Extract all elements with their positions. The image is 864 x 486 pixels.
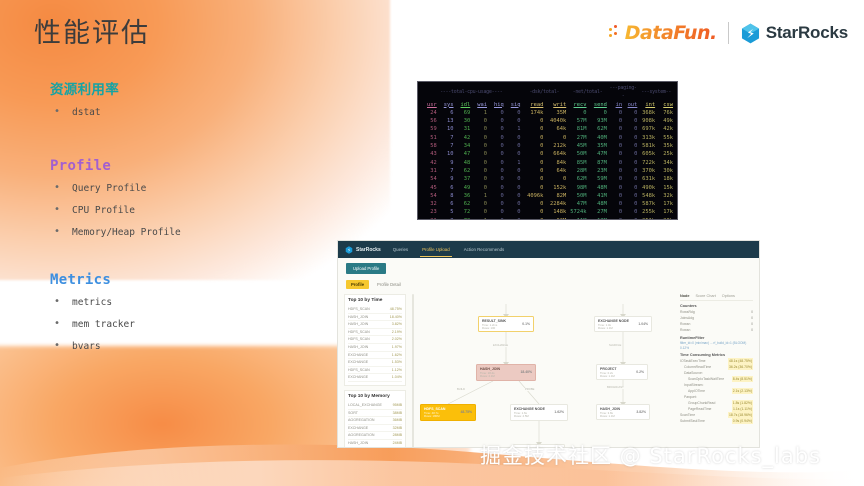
counter-row: Rowsn0 <box>680 327 753 333</box>
dstat-cell-int: 587k <box>638 200 656 208</box>
dstat-cell-sys: 6 <box>438 184 455 192</box>
dstat-cell-siq: 0 <box>505 175 522 183</box>
list-item: metrics <box>50 296 350 309</box>
dstat-cell-idl: 72 <box>455 208 472 216</box>
bullet-list-profile: Query Profile CPU Profile Memory/Heap Pr… <box>50 182 350 239</box>
list-item: bvars <box>50 340 350 353</box>
dstat-col-send: send <box>588 101 608 109</box>
dstat-cell-read: 0 <box>522 134 545 142</box>
metric-value: 0.9s (0.94%) <box>732 418 753 424</box>
dstat-cell-recv: 50M <box>567 192 587 200</box>
table-row: 235720000148k5724k27M00255k17k <box>421 208 674 216</box>
dstat-cell-out: 0 <box>623 208 638 216</box>
dstat-cell-writ: 62M <box>544 217 567 220</box>
dstat-cell-sys: 7 <box>438 167 455 175</box>
list-item[interactable]: EXCHANGE16MB <box>348 448 402 449</box>
dstat-cell-siq: 0 <box>505 217 522 220</box>
dstat-cell-read: 0 <box>522 142 545 150</box>
dstat-cell-recv: 62M <box>567 175 587 183</box>
dstat-cell-send: 87M <box>588 159 608 167</box>
dstat-cell-sys: 9 <box>438 159 455 167</box>
datafun-dots-icon <box>609 25 623 41</box>
edge-label: SHUFFLE <box>608 344 622 347</box>
webui-nav-profile-upload[interactable]: Profile Upload <box>420 243 452 257</box>
webui-toolbar: Upload Profile <box>338 258 759 278</box>
section-heading-profile: Profile <box>50 158 350 174</box>
dstat-cell-read: 0 <box>522 159 545 167</box>
dstat-cell-out: 0 <box>623 117 638 125</box>
dstat-cell-in: 0 <box>608 142 623 150</box>
dstat-cell-out: 0 <box>623 217 638 220</box>
list-item-value: 48.75% <box>390 306 402 313</box>
dstat-cell-siq: 1 <box>505 159 522 167</box>
dstat-cell-sys: 7 <box>438 142 455 150</box>
dstat-cell-writ: 148k <box>544 208 567 216</box>
section-heading-resource: 资源利用率 <box>50 78 350 98</box>
dstat-table: ----total-cpu-usage---- -dsk/total- -net… <box>421 84 674 220</box>
dstat-cell-read: 0 <box>522 117 545 125</box>
dstat-cell-wai: 0 <box>471 200 488 208</box>
dstat-cell-recv: 81M <box>567 125 587 133</box>
dstat-cell-int: 908k <box>638 117 656 125</box>
dstat-cell-send: 27M <box>588 208 608 216</box>
dstat-cell-csw: 42k <box>656 125 674 133</box>
list-item[interactable]: HDFS_SCAN2.02% <box>348 336 402 344</box>
dstat-cell-usr: 54 <box>421 192 438 200</box>
dstat-cell-recv: 85M <box>567 159 587 167</box>
dstat-cell-read: 4096k <box>522 192 545 200</box>
plan-node[interactable]: HDFS_SCANTime: 48.7sRows: 180M48.75% <box>420 404 476 421</box>
list-item-label: HDFS_SCAN <box>348 329 370 336</box>
runtime-filter-note: filter_id=0 (min/max) ... rf_build_id=1 … <box>680 341 753 350</box>
dstat-cell-int: 255k <box>638 208 656 216</box>
right-tab-node[interactable]: Node <box>680 294 690 298</box>
dstat-cell-wai: 0 <box>471 150 488 158</box>
list-item: CPU Profile <box>50 204 350 217</box>
section-heading-metrics: Metrics <box>50 272 350 288</box>
list-item-value: 18.40% <box>390 314 402 321</box>
top-memory-title: Top 10 by Memory <box>348 394 402 399</box>
plan-node-percent: 48.75% <box>461 410 473 414</box>
dstat-group-disk: -dsk/total- <box>522 84 568 101</box>
list-item-label: HDFS_SCAN <box>348 306 370 313</box>
list-item-label: EXCHANGE <box>348 359 368 366</box>
dstat-cell-csw: 34k <box>656 159 674 167</box>
dstat-cell-send: 93M <box>588 117 608 125</box>
dstat-cell-hiq: 0 <box>488 184 505 192</box>
dstat-cell-writ: 2284k <box>544 200 567 208</box>
webui-brand: StarRocks <box>345 246 381 254</box>
table-row: 587340000212k45M35M00581k35k <box>421 142 674 150</box>
dstat-cell-writ: 35M <box>544 109 567 117</box>
starrocks-hexagon-icon <box>345 246 353 254</box>
plan-node-sub: Rows: 4.5M <box>514 415 564 419</box>
list-item-label: HDFS_SCAN <box>348 367 370 374</box>
dstat-cell-send: 40M <box>588 134 608 142</box>
dstat-col-idl: idl <box>455 101 472 109</box>
dstat-col-out: out <box>623 101 638 109</box>
dstat-cell-wai: 0 <box>471 134 488 142</box>
dstat-cell-send: 62M <box>588 125 608 133</box>
edge-label: EXCHANGE <box>492 344 509 347</box>
edge-label: PROBE <box>524 388 535 391</box>
list-item[interactable]: EXCHANGE1.04% <box>348 374 402 382</box>
dstat-cell-out: 0 <box>623 167 638 175</box>
starrocks-hexagon-icon <box>740 23 761 44</box>
dstat-cell-usr: 51 <box>421 134 438 142</box>
list-item[interactable]: HASH_JOIN3.82% <box>348 321 402 329</box>
dstat-cell-in: 0 <box>608 167 623 175</box>
dstat-cell-idl: 69 <box>455 109 472 117</box>
dstat-col-hiq: hiq <box>488 101 505 109</box>
dstat-cell-out: 0 <box>623 184 638 192</box>
dstat-group-cpu: ----total-cpu-usage---- <box>421 84 522 101</box>
plan-node-sub: Rows: 180M <box>424 415 472 419</box>
list-item[interactable]: HASH_JOIN1.97% <box>348 344 402 352</box>
list-item[interactable]: AGGREGATION28MB <box>348 432 402 440</box>
plan-node[interactable]: RESULT_SINKTime: 1.2msRows: 1000.1% <box>478 316 534 332</box>
list-item[interactable]: HDFS_SCAN48.75% <box>348 306 402 314</box>
dstat-cell-out: 0 <box>623 125 638 133</box>
dstat-col-int: int <box>638 101 656 109</box>
dstat-col-usr: usr <box>421 101 438 109</box>
dstat-cell-sys: 10 <box>438 125 455 133</box>
dstat-cell-siq: 0 <box>505 192 522 200</box>
dstat-cell-sys: 6 <box>438 109 455 117</box>
dstat-cell-siq: 0 <box>505 200 522 208</box>
logo-divider <box>728 22 729 44</box>
dstat-col-read: read <box>522 101 545 109</box>
dstat-cell-idl: 31 <box>455 125 472 133</box>
dstat-cell-idl: 34 <box>455 142 472 150</box>
datafun-logo-text: DataFun. <box>625 22 717 44</box>
plan-node[interactable]: EXCHANGE NODETime: 1.6sRows: 4.5M1.62% <box>510 404 568 421</box>
list-item-value: 38MB <box>393 410 402 417</box>
plan-node-percent: 18.40% <box>521 370 533 374</box>
dstat-cell-read: 0 <box>522 208 545 216</box>
dstat-col-siq: siq <box>505 101 522 109</box>
section-metrics: Metrics metrics mem tracker bvars <box>50 272 350 353</box>
dstat-cell-recv: 47M <box>567 200 587 208</box>
dstat-cell-sys: 9 <box>438 175 455 183</box>
list-item[interactable]: EXCHANGE1.62% <box>348 352 402 360</box>
dstat-cell-send: 0 <box>588 109 608 117</box>
dstat-cell-int: 370k <box>638 167 656 175</box>
dstat-cell-in: 0 <box>608 159 623 167</box>
webui-nav-action-recommends[interactable]: Action Recommends <box>462 243 507 256</box>
webui-tabstrip: Profile Profile Detail <box>338 278 759 292</box>
left-panel-scrollbar[interactable] <box>412 294 414 448</box>
dstat-cell-idl: 62 <box>455 167 472 175</box>
list-item-label: EXCHANGE <box>348 425 368 432</box>
dstat-cell-writ: 64k <box>544 125 567 133</box>
dstat-cell-out: 0 <box>623 134 638 142</box>
list-item[interactable]: EXCHANGE1.53% <box>348 359 402 367</box>
dstat-cell-writ: 212k <box>544 142 567 150</box>
dstat-col-sys: sys <box>438 101 455 109</box>
counter-key: Rowsn <box>680 327 690 333</box>
list-item-value: 2.19% <box>392 329 402 336</box>
bullet-list-resource: dstat <box>50 106 350 119</box>
dstat-cell-read: 0 <box>522 167 545 175</box>
dstat-cell-idl: 62 <box>455 200 472 208</box>
dstat-cell-read: 174k <box>522 109 545 117</box>
list-item-label: AGGREGATION <box>348 432 375 439</box>
plan-node-sub: Rows: 1.1M <box>600 375 644 379</box>
list-item: dstat <box>50 106 350 119</box>
table-row: 4310470000664k50M47M00605k25k <box>421 150 674 158</box>
list-item-value: 36MB <box>393 417 402 424</box>
list-item-label: LOCAL_EXCHANGE <box>348 402 382 409</box>
query-plan-graph[interactable]: EXCHANGE BUILD PROBE SHUFFLE BROADCAST R… <box>418 294 676 448</box>
webui-brand-text: StarRocks <box>356 247 381 253</box>
datafun-logo: DataFun. <box>609 22 717 44</box>
dstat-cell-siq: 0 <box>505 142 522 150</box>
dstat-cell-hiq: 0 <box>488 150 505 158</box>
edge-label: BUILD <box>456 388 466 391</box>
plan-node-percent: 0.1% <box>522 322 530 326</box>
table-row: 42948001084k85M87M00722k34k <box>421 159 674 167</box>
dstat-cell-csw: 55k <box>656 134 674 142</box>
tab-profile[interactable]: Profile <box>346 280 369 289</box>
dstat-cell-writ: 664k <box>544 150 567 158</box>
dstat-cell-siq: 0 <box>505 134 522 142</box>
dstat-cell-idl: 70 <box>455 217 472 220</box>
webui-navbar: StarRocks Queries Profile Upload Action … <box>338 241 759 258</box>
logo-group: DataFun. StarRocks <box>609 22 848 44</box>
dstat-cell-int: 581k <box>638 142 656 150</box>
list-item[interactable]: HASH_JOIN24MB <box>348 440 402 448</box>
table-row: 548361004096k82M50M41M00548k32k <box>421 192 674 200</box>
dstat-cell-csw: 49k <box>656 117 674 125</box>
dstat-column-header-row: usr sys idl wai hiq siq read writ recv s… <box>421 101 674 109</box>
dstat-terminal-screenshot: ----total-cpu-usage---- -dsk/total- -net… <box>417 81 678 220</box>
dstat-cell-out: 0 <box>623 200 638 208</box>
table-row: 31762000064k28M23M00370k30k <box>421 167 674 175</box>
dstat-cell-csw: 32k <box>656 192 674 200</box>
dstat-cell-sys: 7 <box>438 134 455 142</box>
dstat-cell-read: 0 <box>522 217 545 220</box>
dstat-cell-recv: 45M <box>567 142 587 150</box>
dstat-cell-send: 59M <box>588 175 608 183</box>
list-item-label: HASH_JOIN <box>348 321 368 328</box>
dstat-cell-writ: 4040k <box>544 117 567 125</box>
edge-label: BROADCAST <box>606 386 625 389</box>
dstat-cell-send: 47M <box>588 150 608 158</box>
list-item[interactable]: SORT38MB <box>348 410 402 418</box>
plan-node[interactable]: HASH_JOINTime: 3.8sRows: 1.1M3.82% <box>596 404 650 420</box>
dstat-cell-read: 0 <box>522 200 545 208</box>
webui-right-panel: Node Score Chart Options Counters RowsRd… <box>680 294 753 448</box>
list-item[interactable]: HDFS_SCAN1.12% <box>348 367 402 375</box>
dstat-cell-siq: 0 <box>505 184 522 192</box>
dstat-cell-writ: 82M <box>544 192 567 200</box>
plan-node-percent: 1.04% <box>638 322 648 326</box>
dstat-cell-wai: 0 <box>471 159 488 167</box>
dstat-cell-wai: 1 <box>471 109 488 117</box>
list-item[interactable]: AGGREGATION36MB <box>348 417 402 425</box>
plan-node[interactable]: PROJECTTime: 0.2sRows: 1.1M0.2% <box>596 364 648 380</box>
dstat-cell-csw: 17k <box>656 200 674 208</box>
dstat-cell-hiq: 0 <box>488 109 505 117</box>
dstat-cell-send: 48M <box>588 200 608 208</box>
right-tab-options[interactable]: Options <box>722 294 735 298</box>
dstat-cell-in: 0 <box>608 175 623 183</box>
metric-value: 8.4s (8.51%) <box>732 376 753 382</box>
slide-root: 性能评估 DataFun. StarRocks 资源利用率 dstat Prof… <box>0 0 864 486</box>
dstat-cell-hiq: 0 <box>488 125 505 133</box>
dstat-cell-usr: 45 <box>421 184 438 192</box>
dstat-cell-in: 0 <box>608 208 623 216</box>
plan-node-sub: Rows: 2.1M <box>480 375 532 379</box>
dstat-cell-csw: 18k <box>656 175 674 183</box>
dstat-cell-writ: 0 <box>544 134 567 142</box>
metric-value: 36.2s (36.70%) <box>728 364 753 370</box>
plan-node[interactable]: HASH_JOINTime: 18.4sRows: 2.1M18.40% <box>476 364 536 381</box>
list-item: Query Profile <box>50 182 350 195</box>
metric-key: SubmitTaskTime <box>680 418 705 424</box>
dstat-cell-read: 0 <box>522 125 545 133</box>
list-item-value: 3.82% <box>392 321 402 328</box>
dstat-cell-in: 0 <box>608 184 623 192</box>
dstat-cell-wai: 0 <box>471 167 488 175</box>
list-item-value: 1.97% <box>392 344 402 351</box>
dstat-cell-csw: 25k <box>656 150 674 158</box>
dstat-cell-siq: 1 <box>505 125 522 133</box>
dstat-cell-siq: 0 <box>505 109 522 117</box>
plan-node-sub: Rows: 1.1M <box>598 327 648 331</box>
bullet-list-metrics: metrics mem tracker bvars <box>50 296 350 353</box>
plan-node[interactable]: EXCHANGE NODETime: 1.0sRows: 1.1M1.04% <box>594 316 652 332</box>
dstat-cell-idl: 49 <box>455 184 472 192</box>
time-metrics-title: Time Consuming Metrics <box>680 353 753 357</box>
list-item-value: 16MB <box>393 448 402 449</box>
dstat-cell-csw: 17k <box>656 208 674 216</box>
list-item-label: SORT <box>348 410 358 417</box>
dstat-cell-in: 0 <box>608 109 623 117</box>
dstat-group-system: ---system-- <box>638 84 674 101</box>
dstat-cell-csw: 15k <box>656 184 674 192</box>
dstat-cell-hiq: 0 <box>488 117 505 125</box>
dstat-cell-idl: 36 <box>455 192 472 200</box>
list-item-label: HDFS_SCAN <box>348 336 370 343</box>
dstat-col-wai: wai <box>471 101 488 109</box>
dstat-cell-idl: 48 <box>455 159 472 167</box>
dstat-cell-recv: 50M <box>567 150 587 158</box>
dstat-cell-usr: 31 <box>421 167 438 175</box>
webui-left-panel: Top 10 by Time HDFS_SCAN48.75%HASH_JOIN1… <box>344 294 406 448</box>
plan-node-sub: Rows: 1.1M <box>600 415 646 419</box>
tab-profile-detail[interactable]: Profile Detail <box>372 280 406 289</box>
top-time-card: Top 10 by Time HDFS_SCAN48.75%HASH_JOIN1… <box>344 294 406 386</box>
dstat-cell-int: 697k <box>638 125 656 133</box>
counter-rows: RowsRdg0JoinsAdg0Rowsn0Rowsn0 <box>680 309 753 333</box>
dstat-cell-wai: 1 <box>471 192 488 200</box>
dstat-cell-usr: 59 <box>421 125 438 133</box>
dstat-cell-siq: 0 <box>505 117 522 125</box>
table-row: 456490000152k98M48M00490k15k <box>421 184 674 192</box>
dstat-cell-int: 605k <box>638 150 656 158</box>
dstat-cell-siq: 0 <box>505 150 522 158</box>
dstat-cell-out: 0 <box>623 192 638 200</box>
dstat-cell-writ: 64k <box>544 167 567 175</box>
dstat-cell-in: 0 <box>608 125 623 133</box>
dstat-cell-send: 48M <box>588 184 608 192</box>
dstat-cell-idl: 30 <box>455 117 472 125</box>
right-tab-score-chart[interactable]: Score Chart <box>696 294 716 298</box>
list-item[interactable]: HDFS_SCAN2.19% <box>348 329 402 337</box>
upload-profile-button[interactable]: Upload Profile <box>346 263 386 274</box>
right-panel-tabs: Node Score Chart Options <box>680 294 753 301</box>
table-row: 517420000027M40M00313k55k <box>421 134 674 142</box>
dstat-cell-int: 368k <box>638 109 656 117</box>
list-item[interactable]: LOCAL_EXCHANGE95MB <box>348 402 402 410</box>
list-item-label: HASH_JOIN <box>348 344 368 351</box>
list-item-value: 2.02% <box>392 336 402 343</box>
dstat-cell-sys: 13 <box>438 117 455 125</box>
dstat-group-net: -net/total- <box>567 84 608 101</box>
dstat-cell-send: 41M <box>588 192 608 200</box>
list-item[interactable]: HASH_JOIN18.40% <box>348 314 402 322</box>
plan-node-percent: 0.2% <box>636 370 644 374</box>
dstat-cell-send: 23M <box>588 167 608 175</box>
dstat-cell-sys: 5 <box>438 208 455 216</box>
dstat-cell-writ: 0 <box>544 175 567 183</box>
section-resource: 资源利用率 dstat <box>50 78 350 119</box>
bullet-content: 资源利用率 dstat Profile Query Profile CPU Pr… <box>50 78 350 362</box>
time-metric-rows: IOTaskExecTime48.1s (48.75%)ColumnReadTi… <box>680 358 753 424</box>
dstat-group-header-row: ----total-cpu-usage---- -dsk/total- -net… <box>421 84 674 101</box>
dstat-cell-int: 251k <box>638 217 656 220</box>
dstat-cell-csw: 76k <box>656 109 674 117</box>
dstat-cell-siq: 0 <box>505 167 522 175</box>
top-time-title: Top 10 by Time <box>348 298 402 303</box>
list-item-label: HASH_JOIN <box>348 314 368 321</box>
list-item-value: 28MB <box>393 432 402 439</box>
list-item-value: 32MB <box>393 425 402 432</box>
list-item: mem tracker <box>50 318 350 331</box>
dstat-cell-out: 0 <box>623 109 638 117</box>
dstat-cell-int: 490k <box>638 184 656 192</box>
dstat-cell-out: 0 <box>623 175 638 183</box>
dstat-body: 24669100174k35M0000368k76k56133000004040… <box>421 109 674 220</box>
dstat-cell-wai: 0 <box>471 208 488 216</box>
plan-node-sub: Rows: 100 <box>482 327 530 331</box>
dstat-cell-sys: 8 <box>438 192 455 200</box>
dstat-cell-int: 313k <box>638 134 656 142</box>
dstat-cell-recv: 98M <box>567 184 587 192</box>
webui-nav-queries[interactable]: Queries <box>391 243 410 256</box>
dstat-cell-hiq: 0 <box>488 142 505 150</box>
dstat-col-recv: recv <box>567 101 587 109</box>
dstat-cell-sys: 10 <box>438 150 455 158</box>
page-title: 性能评估 <box>34 14 150 54</box>
list-item-value: 95MB <box>393 402 402 409</box>
dstat-cell-recv: 5724k <box>567 208 587 216</box>
plan-node-percent: 3.82% <box>636 410 646 414</box>
dstat-cell-wai: 0 <box>471 117 488 125</box>
dstat-cell-usr: 42 <box>421 159 438 167</box>
counter-value: 0 <box>751 327 753 333</box>
dstat-group-paging: ---paging-- <box>608 84 638 101</box>
dstat-cell-hiq: 0 <box>488 167 505 175</box>
dstat-col-in: in <box>608 101 623 109</box>
spacer <box>50 128 350 158</box>
dstat-cell-read: 0 <box>522 150 545 158</box>
profile-webui-screenshot: StarRocks Queries Profile Upload Action … <box>337 240 760 448</box>
dstat-cell-int: 631k <box>638 175 656 183</box>
list-item[interactable]: EXCHANGE32MB <box>348 425 402 433</box>
